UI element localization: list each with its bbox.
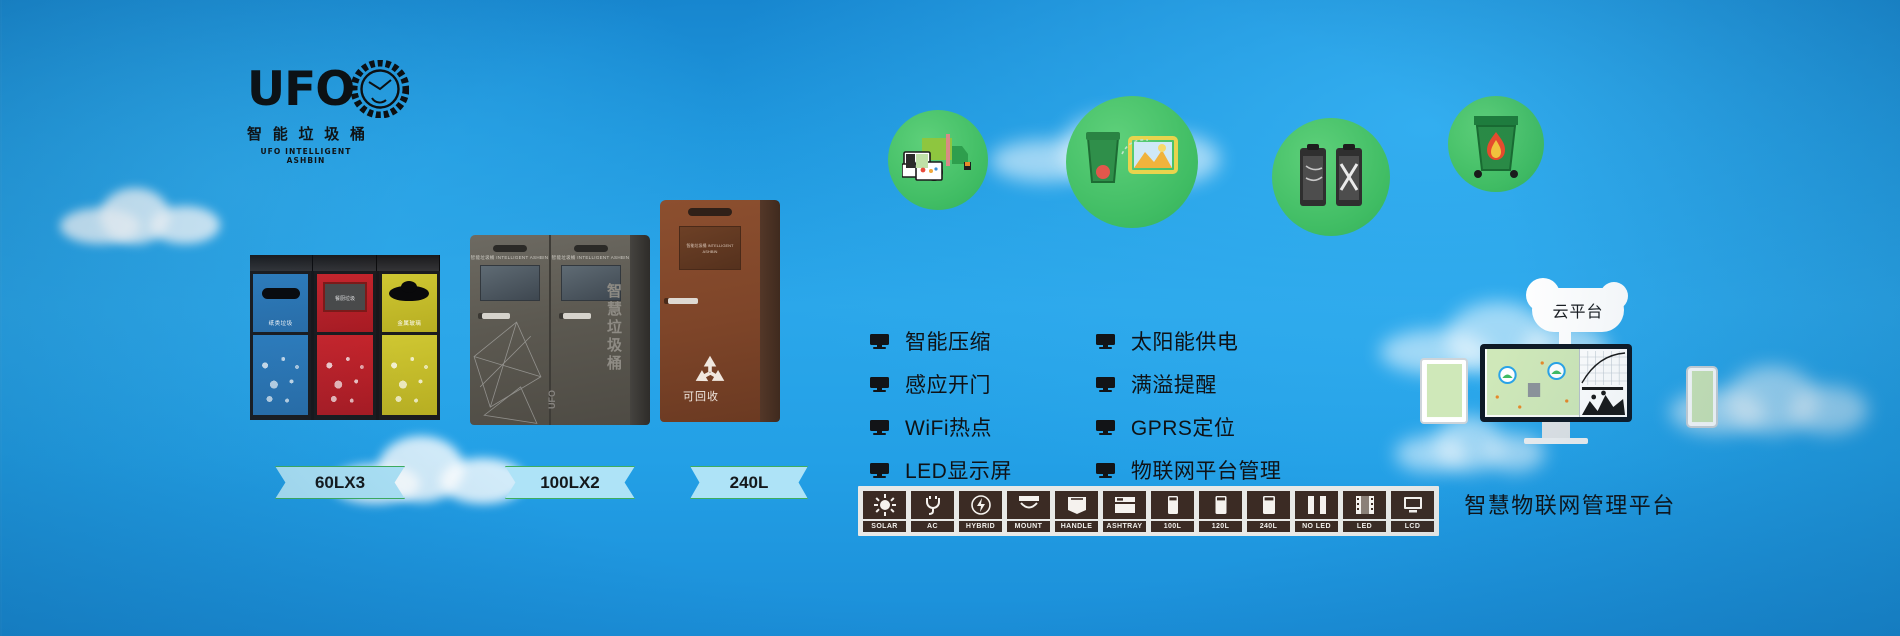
cloud-bubble-label: 云平台 <box>1552 298 1603 322</box>
bin-category-label: 纸类垃圾 <box>253 319 308 327</box>
monitor-bezel <box>1480 344 1632 422</box>
ribbon-label-100lx2: 100LX2 <box>505 466 635 499</box>
monitor-icon <box>1096 377 1115 392</box>
feature-item: LED显示屏 <box>870 455 1012 485</box>
wall-mount-icon <box>1007 491 1050 519</box>
logo-char: 圾 <box>324 123 339 144</box>
ufo-ring-icon <box>351 60 409 118</box>
spec-item-120l: 120L <box>1199 491 1242 532</box>
logo-chinese-name: 智 能 垃 圾 桶 <box>247 123 365 144</box>
spec-item-hybrid: HYBRID <box>959 491 1002 532</box>
single-bin-screen-text: 智能垃圾桶 INTELLIGENT ASHBIN <box>680 243 740 255</box>
feature-item: 智能压缩 <box>870 326 1012 356</box>
feature-label: 满溢提醒 <box>1131 369 1217 399</box>
bin-lower-panel <box>253 335 308 415</box>
bin-cell-kitchen: 餐厨垃圾 <box>314 271 378 420</box>
spec-label: 100L <box>1151 521 1194 532</box>
logo-char: 能 <box>273 123 288 144</box>
spec-label: 120L <box>1199 521 1242 532</box>
ribbon-label-60lx3: 60LX3 <box>275 466 405 499</box>
spec-label: LCD <box>1391 521 1434 532</box>
monitor-icon <box>1096 463 1115 478</box>
product-triple-bin: 纸类垃圾 餐厨垃圾 金属玻璃 <box>250 255 440 420</box>
waste-illustration <box>317 335 372 415</box>
feature-column-2: 太阳能供电 满溢提醒 GPRS定位 物联网平台管理 <box>1096 326 1282 485</box>
door-handle <box>563 313 591 319</box>
double-bin-door: 智能垃圾桶 INTELLIGENT ASHBIN <box>470 235 551 425</box>
double-bin-door: 智能垃圾桶 INTELLIGENT ASHBIN 智慧垃圾桶 UFO <box>551 235 630 425</box>
cloud-platform-block: 云平台 <box>1420 292 1720 472</box>
feature-item: WiFi热点 <box>870 412 1012 442</box>
feature-list: 智能压缩 感应开门 WiFi热点 LED显示屏 太阳能供电 满溢提醒 <box>870 326 1281 485</box>
feature-circle-solar-compaction <box>1066 96 1198 228</box>
feature-label: 感应开门 <box>905 369 991 399</box>
logo-wordmark: UFO <box>247 66 354 113</box>
waste-illustration <box>253 335 308 415</box>
handle-icon <box>1055 491 1098 519</box>
cloud-bubble: 云平台 <box>1532 288 1624 332</box>
product-double-bin: 智能垃圾桶 INTELLIGENT ASHBIN 智能垃圾桶 INTELLIGE… <box>470 235 650 425</box>
spec-label: ASHTRAY <box>1103 521 1146 532</box>
ashtray-icon <box>1103 491 1146 519</box>
monitor-icon <box>870 463 889 478</box>
triple-bin-top <box>250 255 440 271</box>
feature-label: 物联网平台管理 <box>1131 455 1282 485</box>
garbage-truck-and-devices-icon <box>902 132 978 190</box>
bin-100l-icon <box>1151 491 1194 519</box>
monitor-icon <box>870 334 889 349</box>
spec-item-100l: 100L <box>1151 491 1194 532</box>
sun-icon <box>863 491 906 519</box>
feature-label: GPRS定位 <box>1131 412 1236 442</box>
double-bin-wrap: 智能垃圾桶 INTELLIGENT ASHBIN 智能垃圾桶 INTELLIGE… <box>470 235 650 425</box>
feature-column-1: 智能压缩 感应开门 WiFi热点 LED显示屏 <box>870 326 1012 485</box>
feature-label: WiFi热点 <box>905 412 992 442</box>
solar-panel-bin-icon <box>1082 130 1182 198</box>
hybrid-power-icon <box>959 491 1002 519</box>
bin-lower-panel <box>317 335 372 415</box>
logo-char: 智 <box>247 123 262 144</box>
spec-item-mount: MOUNT <box>1007 491 1050 532</box>
chart-graphic <box>1580 349 1627 417</box>
bin-cell-metal-glass: 金属玻璃 <box>379 271 440 420</box>
spec-label: MOUNT <box>1007 521 1050 532</box>
spec-item-no-led: NO LED <box>1295 491 1338 532</box>
spec-item-led: LED <box>1343 491 1386 532</box>
monitor-icon <box>1096 334 1115 349</box>
single-bin-category: 可回收 <box>660 388 742 404</box>
polygon-graphic <box>470 235 549 425</box>
led-bar-icon <box>688 208 732 216</box>
feature-item: 感应开门 <box>870 369 1012 399</box>
monitor-icon <box>1096 420 1115 435</box>
bin-upper-panel: 金属玻璃 <box>382 274 437 332</box>
waste-illustration <box>382 335 437 415</box>
feature-label: LED显示屏 <box>905 455 1012 485</box>
tablet-device <box>1420 358 1468 424</box>
feature-item: 太阳能供电 <box>1096 326 1282 356</box>
double-bin-front: 智能垃圾桶 INTELLIGENT ASHBIN 智能垃圾桶 INTELLIGE… <box>470 235 630 425</box>
phone-device <box>1686 366 1718 428</box>
ribbon-text: 100LX2 <box>540 473 600 493</box>
monitor-icon <box>870 420 889 435</box>
oval-slot-icon <box>262 288 300 299</box>
feature-item: 物联网平台管理 <box>1096 455 1282 485</box>
bin-120l-icon <box>1199 491 1242 519</box>
screen-slot-icon: 餐厨垃圾 <box>323 282 367 312</box>
spec-item-solar: SOLAR <box>863 491 906 532</box>
cloud-decoration <box>60 180 230 250</box>
spec-label: HYBRID <box>959 521 1002 532</box>
bin-screen-text: 餐厨垃圾 <box>325 295 365 302</box>
spec-label: LED <box>1343 521 1386 532</box>
door-subtitle: 智能垃圾桶 INTELLIGENT ASHBIN <box>551 255 630 261</box>
monitor-screen <box>1485 349 1627 417</box>
led-bar-icon <box>574 245 608 252</box>
logo-row: UFO <box>247 58 367 120</box>
bin-fire-alarm-icon <box>1468 114 1524 178</box>
spec-label: 240L <box>1247 521 1290 532</box>
phone-map-screen <box>1691 371 1713 423</box>
recycle-icon <box>692 354 728 388</box>
map-markers <box>1485 349 1579 417</box>
ribbon-label-240l: 240L <box>690 466 808 499</box>
no-led-icon <box>1295 491 1338 519</box>
spec-label: NO LED <box>1295 521 1338 532</box>
single-bin-front: 智能垃圾桶 INTELLIGENT ASHBIN 可回收 <box>660 200 760 422</box>
monitor-stand <box>1542 422 1570 438</box>
promo-banner: UFO 智 能 垃 圾 桶 UFO INTELLIGENT ASHBIN <box>0 0 1900 636</box>
bin-cell-paper: 纸类垃圾 <box>250 271 314 420</box>
double-bin-brand-mark: UFO <box>547 390 557 409</box>
double-bin-vertical-text: 智慧垃圾桶 <box>604 283 624 373</box>
bin-upper-panel: 纸类垃圾 <box>253 274 308 332</box>
tablet-map-screen <box>1426 364 1462 418</box>
single-bin-screen: 智能垃圾桶 INTELLIGENT ASHBIN <box>679 226 741 270</box>
spec-icon-strip: SOLAR AC HYBRID MOUNT <box>858 486 1439 536</box>
door-handle <box>668 298 698 304</box>
feature-label: 太阳能供电 <box>1131 326 1239 356</box>
spec-item-ac: AC <box>911 491 954 532</box>
round-slot-icon <box>389 286 429 301</box>
monitor-icon <box>870 377 889 392</box>
dashboard-chart-panel <box>1579 349 1627 417</box>
logo-char: 桶 <box>350 123 365 144</box>
feature-label: 智能压缩 <box>905 326 991 356</box>
triple-bin-body: 纸类垃圾 餐厨垃圾 金属玻璃 <box>250 271 440 420</box>
ribbon-text: 60LX3 <box>315 473 365 493</box>
bin-lower-panel <box>382 335 437 415</box>
twin-bin-sensor-icon <box>1296 142 1366 212</box>
power-plug-icon <box>911 491 954 519</box>
feature-item: GPRS定位 <box>1096 412 1282 442</box>
feature-circle-fill-level-sensor <box>1272 118 1390 236</box>
bin-240l-icon <box>1247 491 1290 519</box>
monitor-device <box>1480 344 1632 444</box>
monitor-base <box>1524 438 1588 444</box>
logo-english-name: UFO INTELLIGENT ASHBIN <box>247 147 365 165</box>
brand-logo: UFO 智 能 垃 圾 桶 UFO INTELLIGENT ASHBIN <box>247 58 367 165</box>
ribbon-text: 240L <box>730 473 769 493</box>
spec-item-240l: 240L <box>1247 491 1290 532</box>
spec-label: SOLAR <box>863 521 906 532</box>
product-single-bin: 智能垃圾桶 INTELLIGENT ASHBIN 可回收 <box>660 200 780 422</box>
dashboard-map-panel <box>1485 349 1579 417</box>
feature-circle-fleet-management <box>888 110 988 210</box>
logo-char: 垃 <box>298 123 313 144</box>
led-icon <box>1343 491 1386 519</box>
feature-circle-fire-detection <box>1448 96 1544 192</box>
bin-category-label: 金属玻璃 <box>382 319 437 327</box>
cloud-platform-title: 智慧物联网管理平台 <box>1402 488 1738 520</box>
spec-label: HANDLE <box>1055 521 1098 532</box>
spec-item-ashtray: ASHTRAY <box>1103 491 1146 532</box>
spec-item-handle: HANDLE <box>1055 491 1098 532</box>
feature-item: 满溢提醒 <box>1096 369 1282 399</box>
bin-upper-panel: 餐厨垃圾 <box>317 274 372 332</box>
spec-label: AC <box>911 521 954 532</box>
